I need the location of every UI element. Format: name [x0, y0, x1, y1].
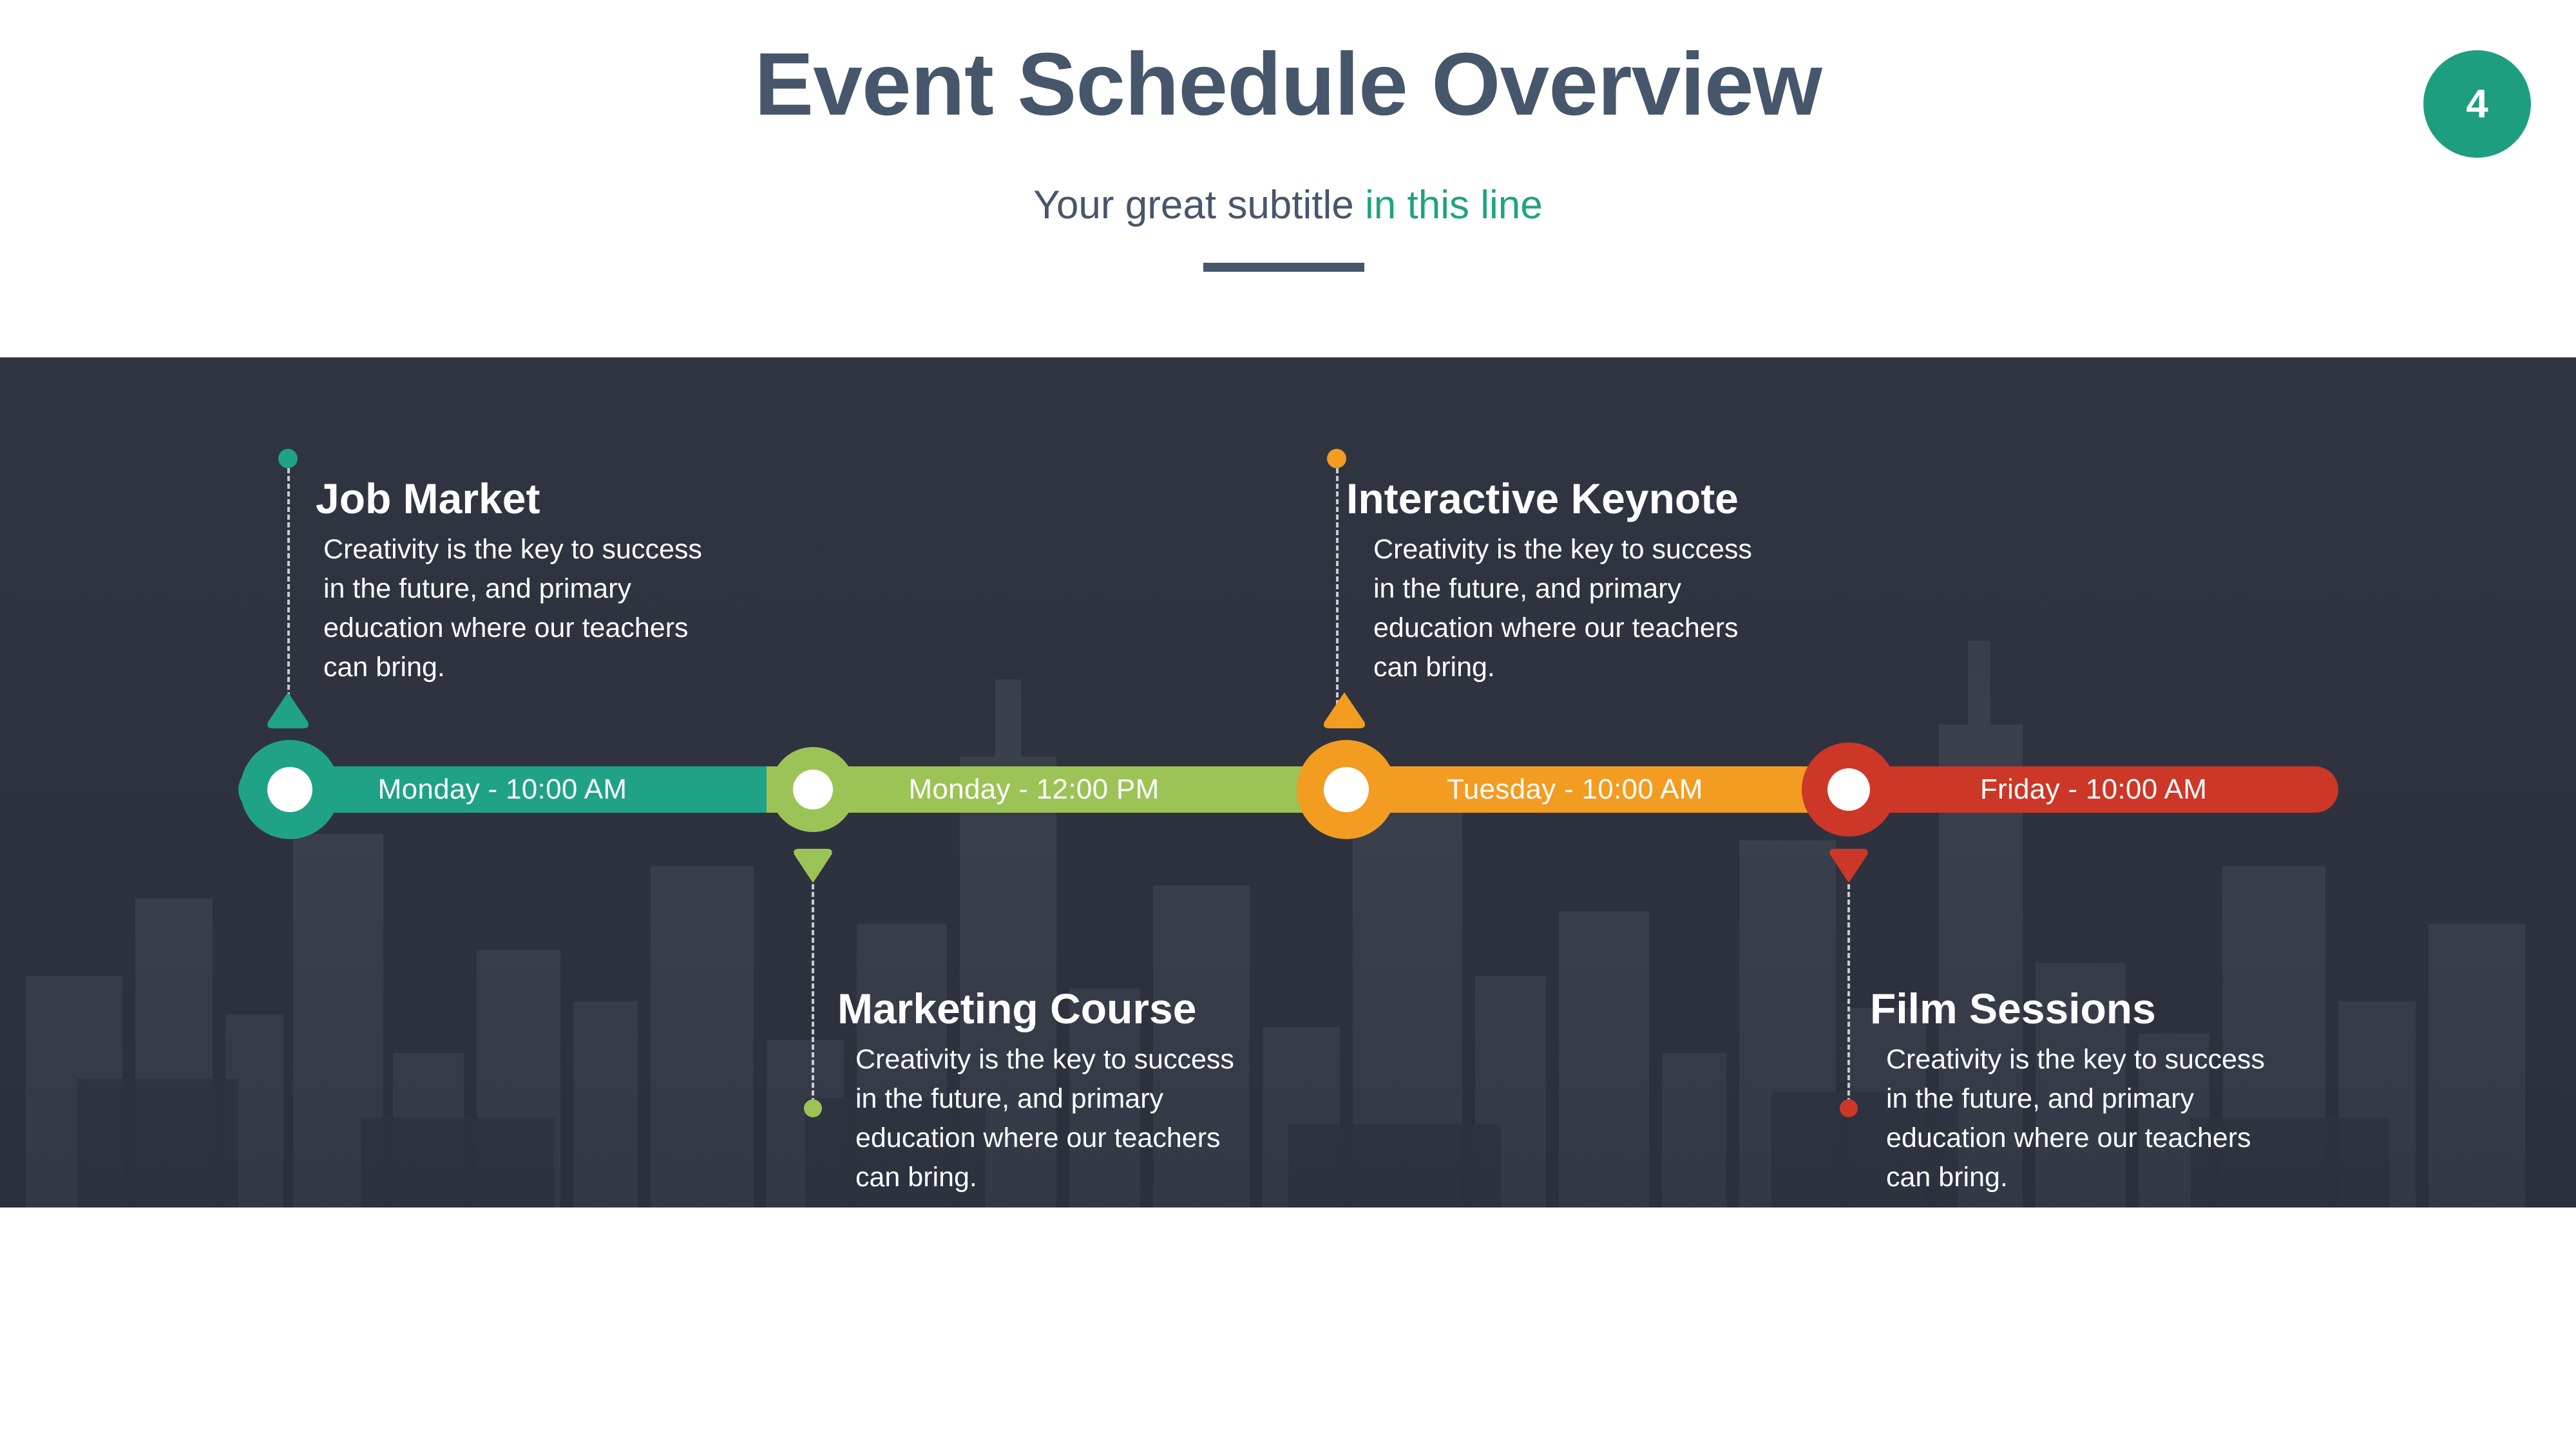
page-title: Event Schedule Overview [0, 40, 2576, 129]
page-subtitle: Your great subtitle in this line [0, 185, 2576, 225]
timeline-node-3-center [1324, 767, 1369, 812]
timeline-node-3[interactable] [1297, 740, 1396, 839]
timeline-node-1[interactable] [240, 740, 339, 839]
timeline-item-1-dot [278, 449, 298, 468]
timeline-item-3-title: Interactive Keynote [1346, 477, 1739, 520]
timeline-segment-1-label: Monday - 10:00 AM [378, 773, 627, 806]
timeline-item-1-body: Creativity is the key to success in the … [323, 530, 720, 687]
subtitle-plain-text: Your great subtitle [1033, 183, 1365, 227]
timeline-item-1-title: Job Market [316, 477, 540, 520]
timeline-item-3-dot [1327, 449, 1346, 468]
timeline-item-2-body: Creativity is the key to success in the … [855, 1040, 1252, 1197]
page-number-badge: 4 [2423, 50, 2531, 158]
timeline-node-2-center [793, 770, 833, 810]
timeline-node-4[interactable] [1802, 743, 1896, 837]
timeline-item-2-title: Marketing Course [837, 987, 1196, 1030]
timeline-item-4-body: Creativity is the key to success in the … [1886, 1040, 2282, 1197]
timeline-item-4-dash-line [1847, 884, 1850, 1103]
timeline-segment-4[interactable]: Friday - 10:00 AM [1849, 766, 2338, 813]
page-number-label: 4 [2466, 81, 2488, 127]
subtitle-underline-rule [1203, 263, 1364, 272]
timeline-node-4-center [1827, 768, 1870, 811]
timeline-segment-2-label: Monday - 12:00 PM [908, 773, 1159, 806]
timeline-item-1-arrow-up-icon [265, 690, 310, 730]
timeline-item-4-dot [1840, 1099, 1858, 1117]
timeline-item-3-body: Creativity is the key to success in the … [1373, 530, 1770, 687]
timeline-item-2-dot [804, 1099, 822, 1117]
timeline-node-2[interactable] [770, 747, 855, 832]
slide-header: Event Schedule Overview Your great subti… [0, 0, 2576, 357]
timeline-item-4-arrow-down-icon [1828, 848, 1869, 884]
timeline-segment-4-label: Friday - 10:00 AM [1980, 773, 2207, 806]
timeline-panel: Monday - 10:00 AM Monday - 12:00 PM Tues… [0, 357, 2576, 1207]
timeline-item-3-arrow-up-icon [1322, 690, 1367, 730]
timeline-item-4-title: Film Sessions [1870, 987, 2156, 1030]
subtitle-accent-text: in this line [1365, 183, 1543, 227]
timeline-node-1-center [267, 767, 312, 812]
timeline-item-2-arrow-down-icon [792, 848, 834, 884]
timeline-segment-3-label: Tuesday - 10:00 AM [1447, 773, 1703, 806]
timeline-item-2-dash-line [812, 884, 814, 1103]
